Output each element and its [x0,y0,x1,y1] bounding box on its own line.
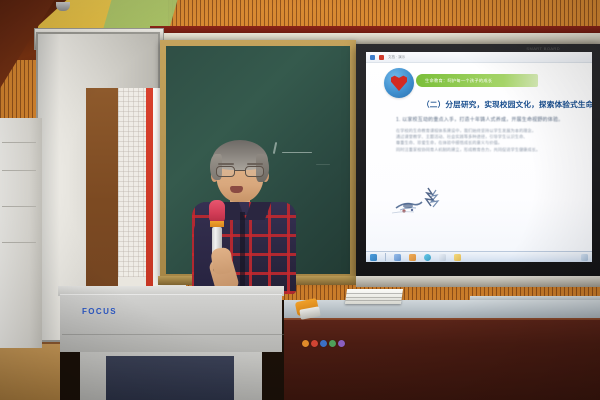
start-button-icon[interactable] [370,254,377,261]
marker-cap [329,340,336,347]
file-explorer-icon[interactable] [394,254,401,261]
glasses-bridge [235,170,245,171]
podium-brand-label: FOCUS [82,307,117,316]
marker-cap [302,340,309,347]
slide-body-line: 同时注重家校协同育人机制的建立，形成教育合力，共同促进学生健康成长。 [396,147,592,153]
marker-cap [338,340,345,347]
lens-right [245,166,264,177]
display-brand-plate: SMART BOARD [526,46,560,51]
podium-seam [62,334,284,335]
school-emblem-icon [384,68,414,98]
toolbar-label: 文档 · 演示 [388,55,405,60]
browser-icon[interactable] [424,254,431,261]
system-tray-icon[interactable] [581,254,588,261]
podium-monitor[interactable] [106,356,234,400]
mouth [230,186,243,193]
eyeglasses [216,166,264,177]
interactive-display[interactable]: 文档 · 演示 生命教育：呵护每一个孩子的成长 （二）分层研究，实现校园文化，探… [356,44,600,276]
podium[interactable]: FOCUS [58,286,284,400]
display-mount [356,276,600,287]
photo-scene: 文档 · 演示 生命教育：呵护每一个孩子的成长 （二）分层研究，实现校园文化，探… [0,0,600,400]
display-screen[interactable]: 文档 · 演示 生命教育：呵护每一个孩子的成长 （二）分层研究，实现校园文化，探… [366,52,592,262]
wall-white-panel [0,118,42,348]
marker-caps-row[interactable] [302,340,345,347]
microphone-windscreen [209,200,225,222]
powerpoint-icon [379,55,384,60]
marker-cap [311,340,318,347]
wall-red-trim [150,26,600,33]
slide-lead-text: 1. 以家校互动的重点入手，打造十年铸人式养成，开展生命视野的体验。 [396,116,592,123]
corridor-tiled-wall [118,88,148,277]
lens-left [216,166,235,177]
eyebrow-left [218,163,234,165]
floor [0,344,60,400]
presentation-toolbar: 文档 · 演示 [366,52,592,63]
app-icon [370,55,375,60]
presenter [186,140,300,290]
taskbar-divider [385,253,386,261]
ink-painting-illustration [388,180,450,220]
slide-title: （二）分层研究，实现校园文化，探索体验式生命教育 [422,99,592,110]
podium-front-face: FOCUS [60,294,282,352]
marker-cap [320,340,327,347]
slide-banner: 生命教育：呵护每一个孩子的成长 [416,74,538,87]
desk-front-panel [284,320,600,400]
document-window-icon[interactable] [439,254,446,261]
media-player-icon[interactable] [409,254,416,261]
folder-icon[interactable] [454,254,461,261]
paper-stack[interactable] [345,289,403,304]
heart-shield-shape [391,75,408,91]
slide-body-text: 在学校的生命教育课程体系建设中，我们始终坚持以学生发展为本的理念， 通过课堂教学… [396,128,592,153]
eyebrow-right [247,163,263,165]
windows-taskbar[interactable] [366,251,592,262]
slide-banner-text: 生命教育：呵护每一个孩子的成长 [425,78,492,84]
shirt-placket [240,212,245,294]
hand [210,247,233,276]
